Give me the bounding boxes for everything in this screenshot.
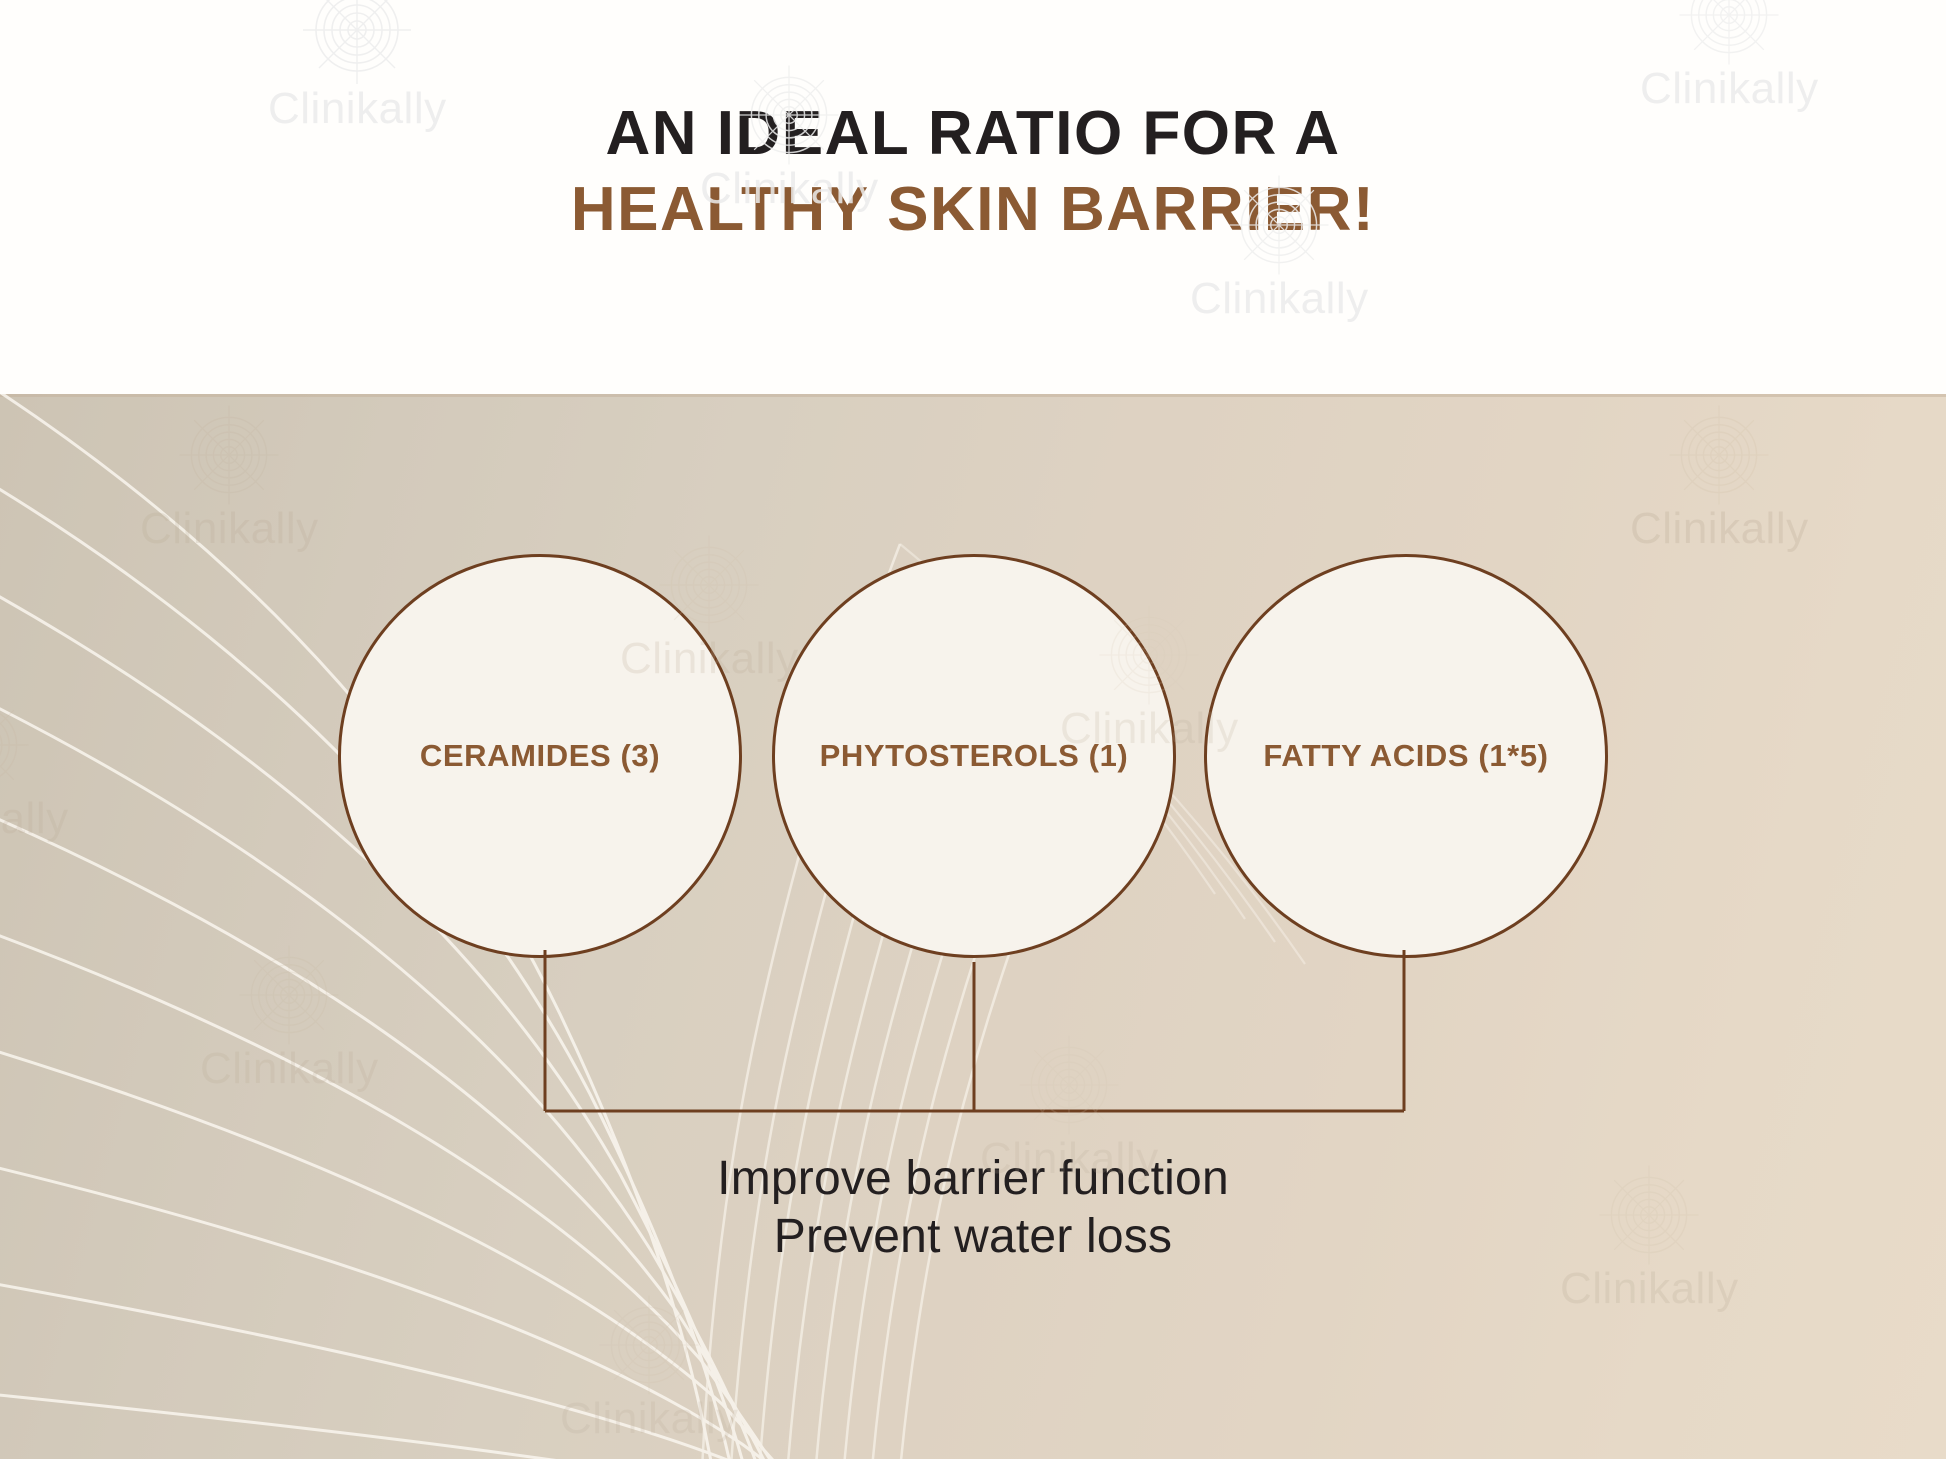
outcome-line-1: Improve barrier function	[0, 1150, 1946, 1208]
outcomes-block: Improve barrier function Prevent water l…	[0, 1150, 1946, 1265]
venn-circle-fatty-acids[interactable]: FATTY ACIDS (1*5)	[1204, 554, 1608, 958]
infographic-canvas: AN IDEAL RATIO FOR A HEALTHY SKIN BARRIE…	[0, 0, 1946, 1459]
title-line-accent: HEALTHY SKIN BARRIER!	[0, 172, 1946, 248]
venn-circle-label: FATTY ACIDS (1*5)	[1263, 738, 1548, 774]
venn-circle-label: CERAMIDES (3)	[420, 738, 660, 774]
header-band: AN IDEAL RATIO FOR A HEALTHY SKIN BARRIE…	[0, 0, 1946, 394]
page-title: AN IDEAL RATIO FOR A HEALTHY SKIN BARRIE…	[0, 0, 1946, 247]
beige-panel: CERAMIDES (3) PHYTOSTEROLS (1) FATTY ACI…	[0, 394, 1946, 1459]
venn-diagram: CERAMIDES (3) PHYTOSTEROLS (1) FATTY ACI…	[0, 394, 1946, 1459]
outcome-line-2: Prevent water loss	[0, 1208, 1946, 1266]
venn-circle-phytosterols[interactable]: PHYTOSTEROLS (1)	[772, 554, 1176, 958]
title-line-primary: AN IDEAL RATIO FOR A	[0, 96, 1946, 172]
venn-circle-label: PHYTOSTEROLS (1)	[820, 738, 1129, 774]
venn-circle-ceramides[interactable]: CERAMIDES (3)	[338, 554, 742, 958]
